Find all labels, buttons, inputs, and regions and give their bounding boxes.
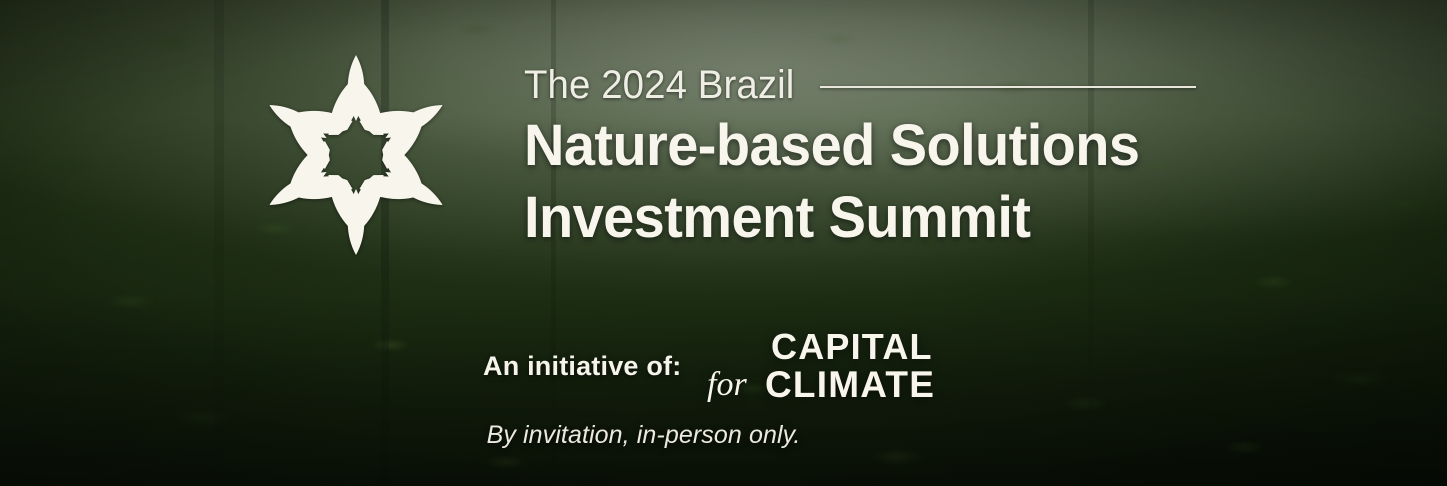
nbs-summit-rosette-mark-icon xyxy=(231,27,481,283)
initiative-label: An initiative of: xyxy=(483,351,681,382)
eyebrow-text: The 2024 Brazil xyxy=(524,63,794,108)
eyebrow-horizontal-rule xyxy=(820,86,1196,88)
banner-content: The 2024 Brazil Nature-based Solutions I… xyxy=(0,0,1447,486)
summit-banner: The 2024 Brazil Nature-based Solutions I… xyxy=(0,0,1447,486)
svg-text:for: for xyxy=(707,366,747,403)
svg-text:CAPITAL: CAPITAL xyxy=(771,326,933,367)
tagline: By invitation, in-person only. xyxy=(0,421,1447,450)
eyebrow-row: The 2024 Brazil xyxy=(524,62,1284,108)
tagline-text: By invitation, in-person only. xyxy=(487,421,801,450)
capital-for-climate-logo: CAPITAL for CLIMATE xyxy=(703,325,979,407)
svg-text:CLIMATE: CLIMATE xyxy=(765,364,935,405)
headline-line-1: Nature-based Solutions xyxy=(524,112,1257,180)
headline-block: The 2024 Brazil Nature-based Solutions I… xyxy=(524,62,1284,252)
headline-line-2: Investment Summit xyxy=(524,184,1257,252)
initiative-lockup: An initiative of: CAPITAL for CLIMATE xyxy=(483,325,979,407)
